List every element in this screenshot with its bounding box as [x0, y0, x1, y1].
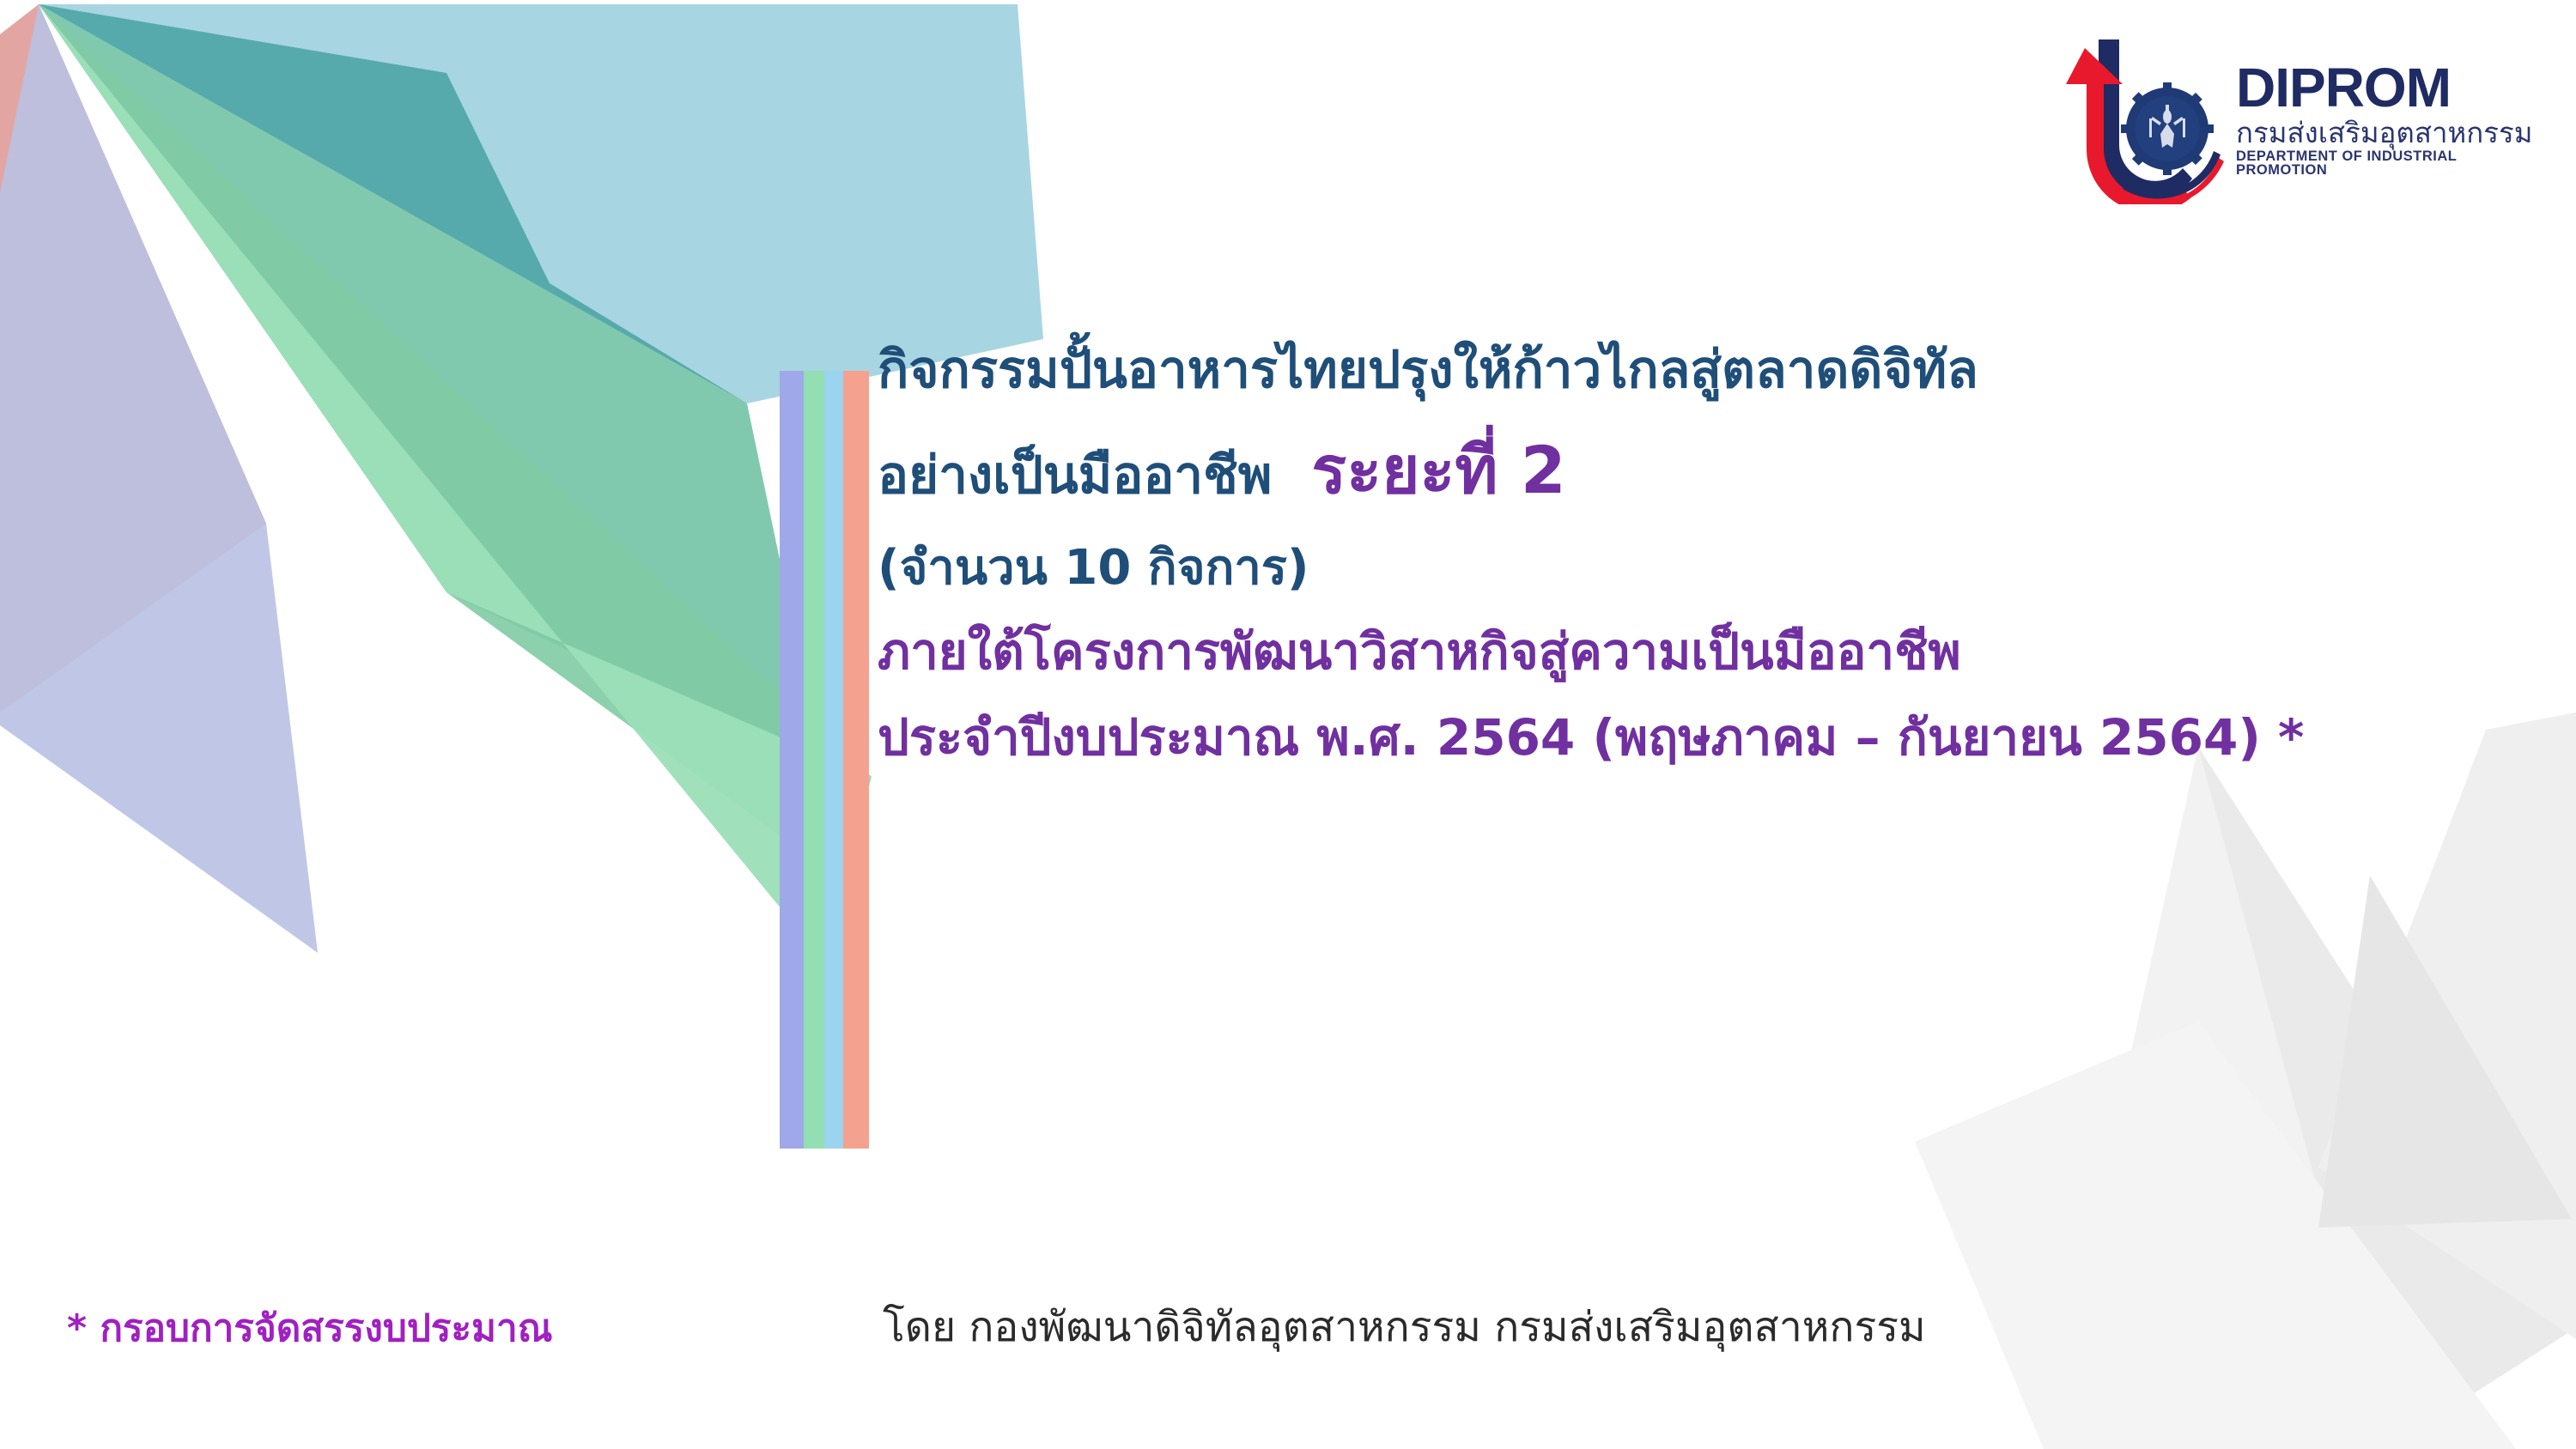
accent-bar-periwinkle [780, 371, 804, 1149]
diprom-logo: DIPROM กรมส่งเสริมอุตสาหกรรม DEPARTMENT … [2037, 24, 2552, 213]
title-line-1: กิจกรรมปั้นอาหารไทยปรุงให้ก้าวไกลสู่ตลาด… [878, 326, 2561, 415]
logo-acronym: DIPROM [2236, 60, 2552, 115]
title-line-5: ประจำปีงบประมาณ พ.ศ. 2564 (พฤษภาคม – กัน… [878, 695, 2561, 781]
deco-shape-teal-mid [39, 4, 824, 773]
byline-text: โดย กองพัฒนาดิจิทัลอุตสาหกรรม กรมส่งเสริ… [883, 1294, 1926, 1360]
title-block: กิจกรรมปั้นอาหารไทยปรุงให้ก้าวไกลสู่ตลาด… [878, 326, 2561, 781]
deco-shape-mint [39, 4, 872, 871]
accent-bar-green [804, 371, 824, 1149]
deco-shape-gray-4 [1915, 1022, 2516, 1449]
deco-shape-gray-3 [2318, 712, 2576, 1339]
deco-shape-mint-light [39, 4, 872, 961]
title-line-3: (จำนวน 10 กิจการ) [878, 527, 2561, 609]
deco-shape-gray-5 [2318, 876, 2572, 1228]
title-line-2-prefix: อย่างเป็นมืออาชีพ [878, 446, 1272, 506]
deco-shape-gray-2 [2198, 747, 2572, 1449]
deco-shape-teal [39, 4, 747, 403]
deco-shape-salmon [0, 4, 266, 712]
accent-bar-blue [824, 371, 843, 1149]
logo-english-name: DEPARTMENT OF INDUSTRIAL PROMOTION [2236, 149, 2552, 178]
diprom-logo-mark-icon [2037, 33, 2226, 204]
budget-footnote: * กรอบการจัดสรรงบประมาณ [67, 1298, 553, 1358]
accent-bar-salmon [843, 371, 869, 1149]
gear-icon [2121, 82, 2214, 175]
title-line-2: อย่างเป็นมืออาชีพระยะที่ 2 [878, 415, 2561, 527]
logo-thai-name: กรมส่งเสริมอุตสาหกรรม [2236, 118, 2552, 147]
title-stage-label: ระยะที่ 2 [1311, 432, 1565, 508]
title-line-4: ภายใต้โครงการพัฒนาวิสาหกิจสู่ความเป็นมือ… [878, 609, 2561, 695]
deco-shape-gray-1 [2044, 747, 2387, 1449]
title-accent-bars [780, 371, 869, 1149]
deco-shape-periwinkle [0, 4, 318, 953]
slide-canvas: DIPROM กรมส่งเสริมอุตสาหกรรม DEPARTMENT … [0, 0, 2576, 1449]
